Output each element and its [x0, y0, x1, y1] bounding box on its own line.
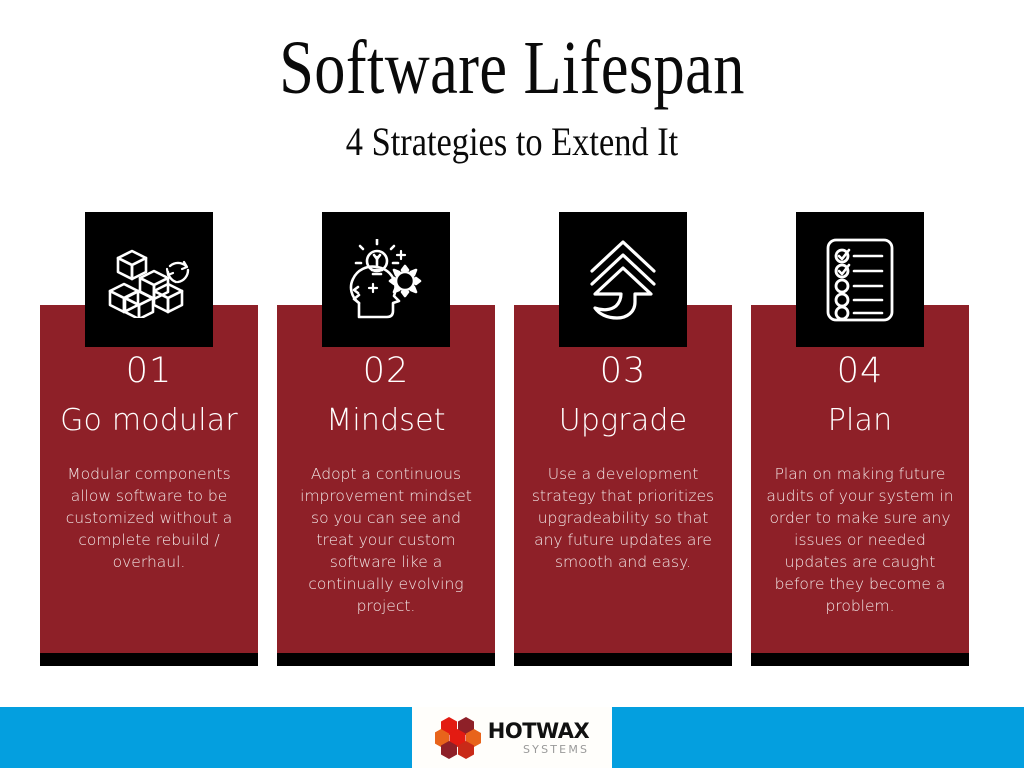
strategy-card-1[interactable]: 01 Go modular Modular components allow s…	[40, 305, 258, 665]
card-number: 01	[40, 351, 258, 391]
brand-wordmark: HOTWAX SYSTEMS	[488, 721, 589, 755]
card-title: Upgrade	[514, 403, 732, 438]
upward-arrow-chevrons-icon	[559, 212, 687, 347]
card-description: Modular components allow software to be …	[54, 463, 244, 573]
card-title: Go modular	[40, 403, 258, 438]
card-title: Plan	[751, 403, 969, 438]
card-number: 02	[277, 351, 495, 391]
card-bottom-bar	[751, 653, 969, 666]
card-description: Plan on making future audits of your sys…	[765, 463, 955, 617]
card-bottom-bar	[514, 653, 732, 666]
card-bottom-bar	[277, 653, 495, 666]
strategy-card-3[interactable]: 03 Upgrade Use a development strategy th…	[514, 305, 732, 665]
page-title: Software Lifespan	[92, 0, 932, 106]
footer-logo-panel: HOTWAX SYSTEMS	[412, 707, 612, 768]
footer-accent-bar-right	[612, 707, 1024, 768]
page-subtitle: 4 Strategies to Extend It	[72, 106, 953, 162]
header: Software Lifespan 4 Strategies to Extend…	[0, 0, 1024, 200]
card-number: 03	[514, 351, 732, 391]
hexagon-honeycomb-icon	[435, 716, 481, 760]
brand-name: HOTWAX	[488, 721, 589, 742]
card-description: Use a development strategy that prioriti…	[528, 463, 718, 573]
head-lightbulb-gear-icon	[322, 212, 450, 347]
card-description: Adopt a continuous improvement mindset s…	[291, 463, 481, 617]
brand-tagline: SYSTEMS	[488, 744, 589, 755]
card-number: 04	[751, 351, 969, 391]
strategy-card-4[interactable]: 04 Plan Plan on making future audits of …	[751, 305, 969, 665]
card-bottom-bar	[40, 653, 258, 666]
checklist-clipboard-icon	[796, 212, 924, 347]
card-title: Mindset	[277, 403, 495, 438]
modular-cubes-recycle-icon	[85, 212, 213, 347]
footer: HOTWAX SYSTEMS	[0, 707, 1024, 768]
footer-accent-bar-left	[0, 707, 412, 768]
strategy-card-2[interactable]: 02 Mindset Adopt a continuous improvemen…	[277, 305, 495, 665]
brand-logo: HOTWAX SYSTEMS	[435, 716, 589, 760]
strategy-cards: 01 Go modular Modular components allow s…	[0, 212, 1024, 682]
